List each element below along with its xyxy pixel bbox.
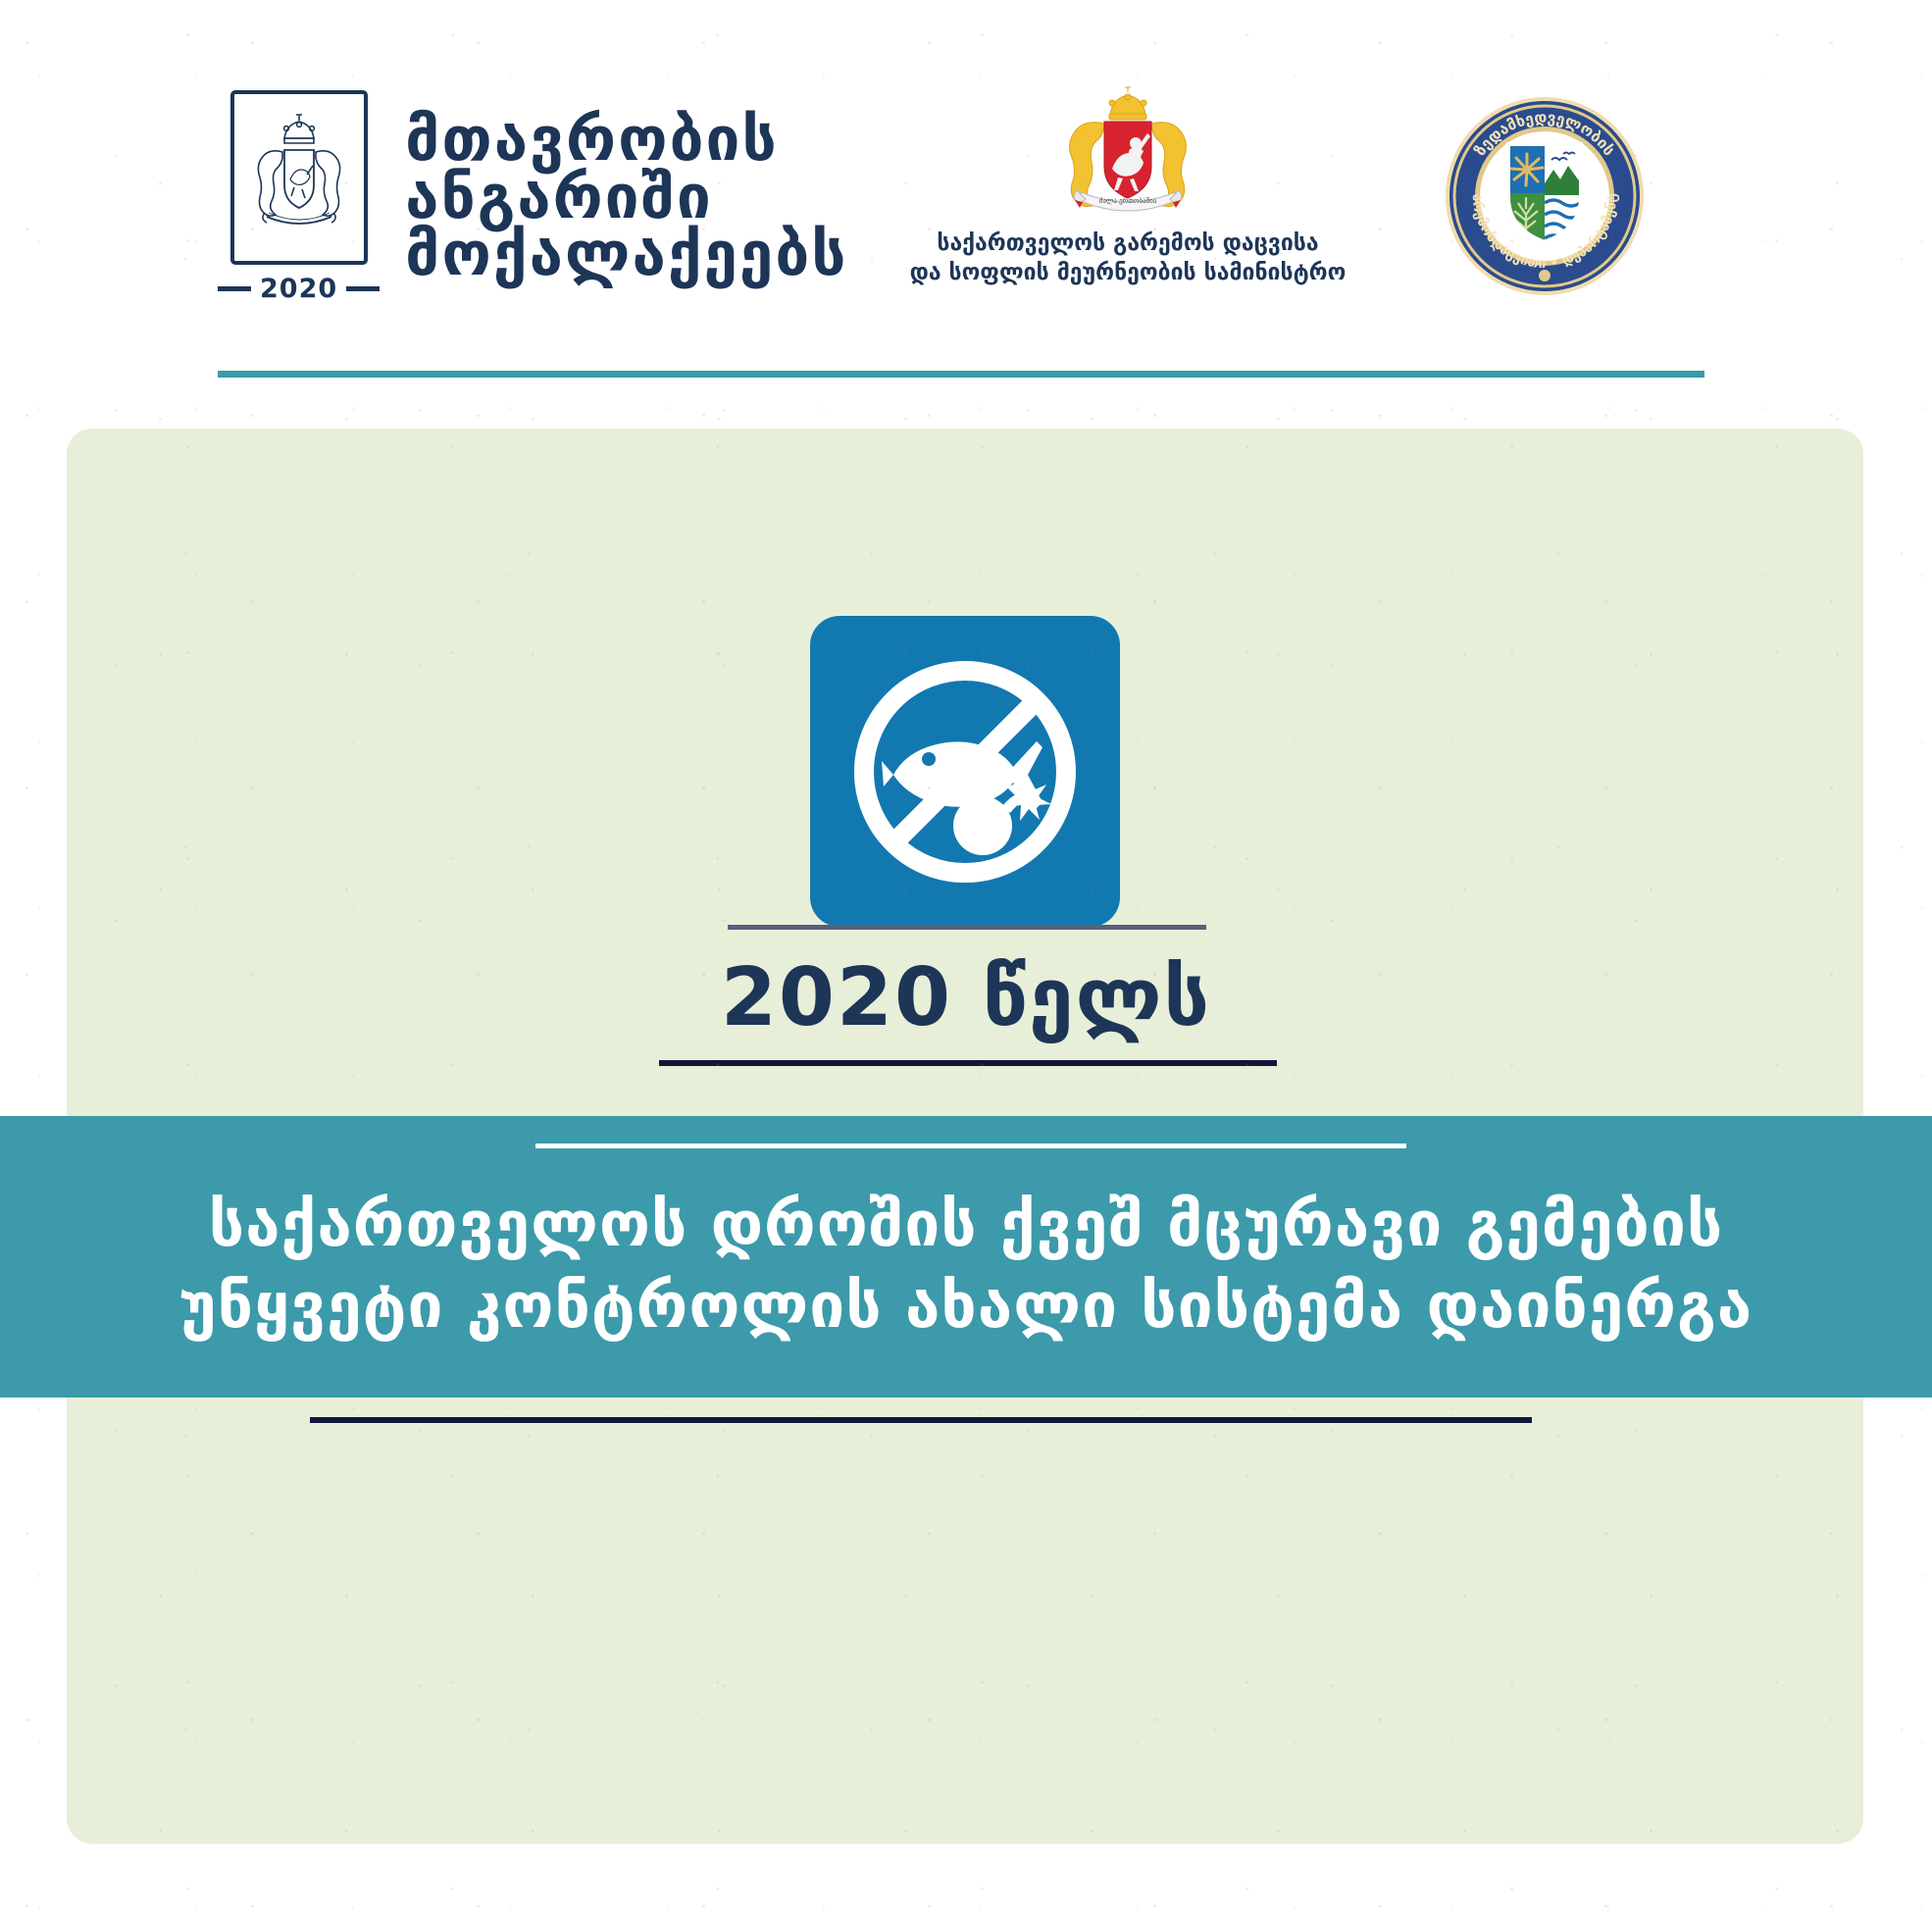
gov-logo-line-1: მთავრობის [405, 111, 847, 169]
georgia-state-coat-of-arms-icon: ძალა ერთობაშია [883, 86, 1373, 216]
ministry-line-2: და სოფლის მეურნეობის სამინისტრო [883, 259, 1373, 288]
headline-text: საქართველოს დროშის ქვეშ მცურავი გემების … [0, 1185, 1932, 1347]
agency-logo: ზედამხედველობის გარემოსდაცვითი • დეპარტა… [1427, 93, 1662, 303]
header: 2020 მთავრობის ანგარიში მოქალაქეებს [0, 0, 1932, 384]
gov-report-logo: 2020 მთავრობის ანგარიში მოქალაქეებს [218, 90, 848, 304]
gov-crest-wrap: 2020 [218, 90, 380, 304]
no-dynamite-fishing-icon [810, 616, 1120, 927]
rule-below-year [659, 1060, 1277, 1066]
year-heading: 2020 წელს [0, 951, 1932, 1044]
ministry-logo-text: საქართველოს გარემოს დაცვისა და სოფლის მე… [883, 229, 1373, 288]
header-divider [218, 371, 1704, 378]
year-dash-right [346, 286, 380, 291]
year-value: 2020 [260, 274, 337, 304]
gov-logo-line-3: მოქალაქეებს [405, 226, 847, 283]
svg-text:ძალა ერთობაშია: ძალა ერთობაშია [1099, 196, 1157, 205]
banner-rule [535, 1143, 1406, 1148]
environmental-supervision-department-seal-icon: ზედამხედველობის გარემოსდაცვითი • დეპარტა… [1442, 93, 1648, 303]
gov-logo-wordmark: მთავრობის ანგარიში მოქალაქეებს [405, 111, 847, 284]
ministry-logo: ძალა ერთობაშია საქართველოს გარემოს დაცვი… [883, 86, 1373, 288]
georgia-coat-of-arms-outline-icon [230, 90, 368, 265]
rule-below-banner [310, 1417, 1532, 1423]
ministry-line-1: საქართველოს გარემოს დაცვისა [883, 229, 1373, 259]
headline-line-2: უნყვეტი კონტროლის ახალი სისტემა დაინერგა [0, 1266, 1932, 1347]
headline-line-1: საქართველოს დროშის ქვეშ მცურავი გემების [0, 1185, 1932, 1266]
gov-logo-year: 2020 [218, 274, 380, 304]
rule-above-year [728, 925, 1206, 930]
year-dash-left [218, 286, 251, 291]
